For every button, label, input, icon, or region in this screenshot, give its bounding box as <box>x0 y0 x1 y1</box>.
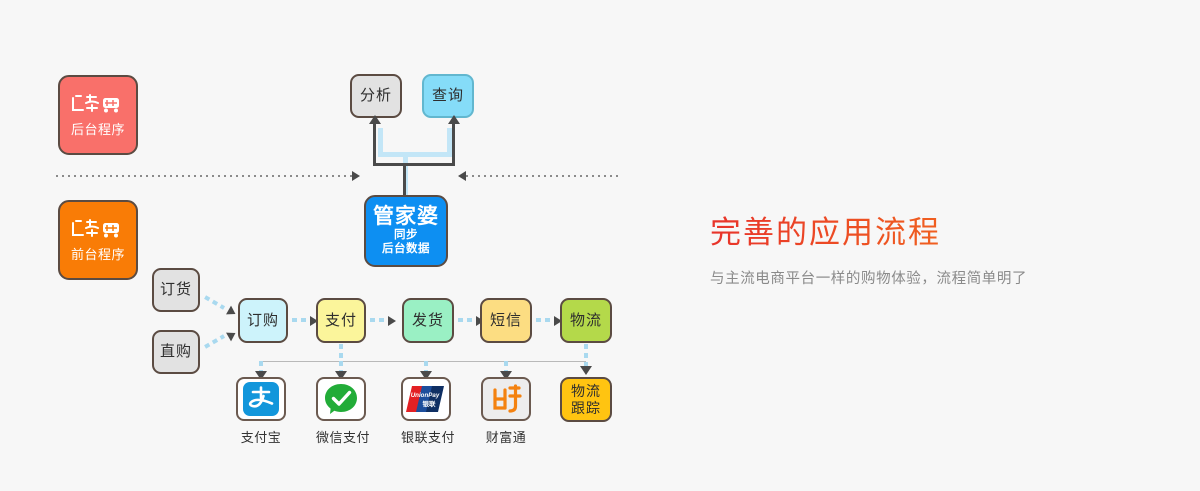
node-label: 查询 <box>432 87 464 104</box>
payment-caption: 微信支付 <box>316 427 366 446</box>
connector-ship-to-sms <box>458 318 476 322</box>
unionpay-tile[interactable]: UnionPay 银联 <box>401 377 451 421</box>
alipay-icon <box>241 381 281 417</box>
wechat-pay-icon <box>322 381 360 417</box>
copy-block: 完善的应用流程 与主流电商平台一样的购物体验，流程简单明了 <box>710 214 1160 288</box>
payment-caption: 财富通 <box>481 427 531 446</box>
payment-option-unionpay[interactable]: UnionPay 银联 银联支付 <box>401 377 451 446</box>
node-label-line2: 跟踪 <box>571 400 601 416</box>
connector-logistics-down <box>584 344 588 366</box>
brand-tile-backend-program[interactable]: 后台程序 <box>58 75 138 155</box>
payment-option-tenpay[interactable]: 财富通 <box>481 377 531 446</box>
node-label: 订货 <box>160 281 192 298</box>
node-direct-buy[interactable]: 直购 <box>152 330 200 374</box>
brand-tile-frontend-program[interactable]: 前台程序 <box>58 200 138 280</box>
connector-arrow-ship-icon <box>388 316 396 326</box>
connector-arrow-order-goods-icon <box>226 306 238 319</box>
section-divider-right <box>466 175 618 177</box>
node-label: 发货 <box>412 312 444 329</box>
connector-arrow-up-analysis-icon <box>369 115 381 124</box>
node-shipping[interactable]: 发货 <box>402 298 454 343</box>
divider-arrow-left-icon <box>458 171 466 181</box>
connector-sms-to-logistics <box>536 318 554 322</box>
hero-node-guanjiapo[interactable]: 管家婆 同步 后台数据 <box>364 195 448 267</box>
connector-arm-left <box>373 124 376 166</box>
node-analysis[interactable]: 分析 <box>350 74 402 118</box>
tenpay-icon <box>487 382 525 416</box>
connector-purchase-to-pay <box>292 318 310 322</box>
tenpay-tile[interactable] <box>481 377 531 421</box>
payment-caption: 支付宝 <box>236 427 286 446</box>
connector-blue-bar <box>378 152 452 157</box>
connector-pay-to-ship <box>370 318 388 322</box>
node-label: 直购 <box>160 343 192 360</box>
guanjiapo-logo-icon <box>70 218 126 240</box>
node-logistics-tracking[interactable]: 物流 跟踪 <box>560 377 612 422</box>
unionpay-icon: UnionPay 银联 <box>405 384 447 414</box>
flow-diagram-canvas: 后台程序 前台程序 <box>0 0 1200 491</box>
payment-option-wechat[interactable]: 微信支付 <box>316 377 366 446</box>
connector-arm-right <box>452 124 455 166</box>
node-label: 短信 <box>490 312 522 329</box>
node-sms[interactable]: 短信 <box>480 298 532 343</box>
divider-arrow-right-icon <box>352 171 360 181</box>
connector-arrow-up-query-icon <box>448 115 460 124</box>
node-order-goods[interactable]: 订货 <box>152 268 200 312</box>
brand-tile-label: 前台程序 <box>71 244 125 263</box>
connector-direct-buy-to-purchase <box>204 334 225 348</box>
payment-option-alipay[interactable]: 支付宝 <box>236 377 286 446</box>
hero-brand: 管家婆 <box>373 206 439 228</box>
connector-arrow-direct-buy-icon <box>226 329 238 342</box>
alipay-tile[interactable] <box>236 377 286 421</box>
page-subtitle: 与主流电商平台一样的购物体验，流程简单明了 <box>710 267 1160 288</box>
connector-stem <box>403 163 406 197</box>
node-purchase[interactable]: 订购 <box>238 298 288 343</box>
brand-tile-label: 后台程序 <box>71 119 125 138</box>
connector-pay-down <box>339 344 343 361</box>
node-query[interactable]: 查询 <box>422 74 474 118</box>
connector-arrow-tracking-icon <box>580 366 592 375</box>
node-label: 物流 <box>570 312 602 329</box>
wechat-pay-tile[interactable] <box>316 377 366 421</box>
hero-line1: 同步 <box>394 228 418 242</box>
node-label: 分析 <box>360 87 392 104</box>
guanjiapo-logo-icon <box>70 93 126 115</box>
node-label-line1: 物流 <box>571 383 601 399</box>
node-label: 支付 <box>325 312 357 329</box>
node-logistics[interactable]: 物流 <box>560 298 612 343</box>
node-label: 订购 <box>247 312 279 329</box>
section-divider-left <box>56 175 352 177</box>
svg-text:银联: 银联 <box>423 399 437 408</box>
page-title: 完善的应用流程 <box>710 214 1160 253</box>
svg-text:UnionPay: UnionPay <box>411 392 440 399</box>
connector-order-goods-to-purchase <box>204 295 225 309</box>
connector-crossbar <box>373 163 455 166</box>
payment-caption: 银联支付 <box>401 427 451 446</box>
hero-line2: 后台数据 <box>382 242 430 256</box>
node-payment[interactable]: 支付 <box>316 298 366 343</box>
